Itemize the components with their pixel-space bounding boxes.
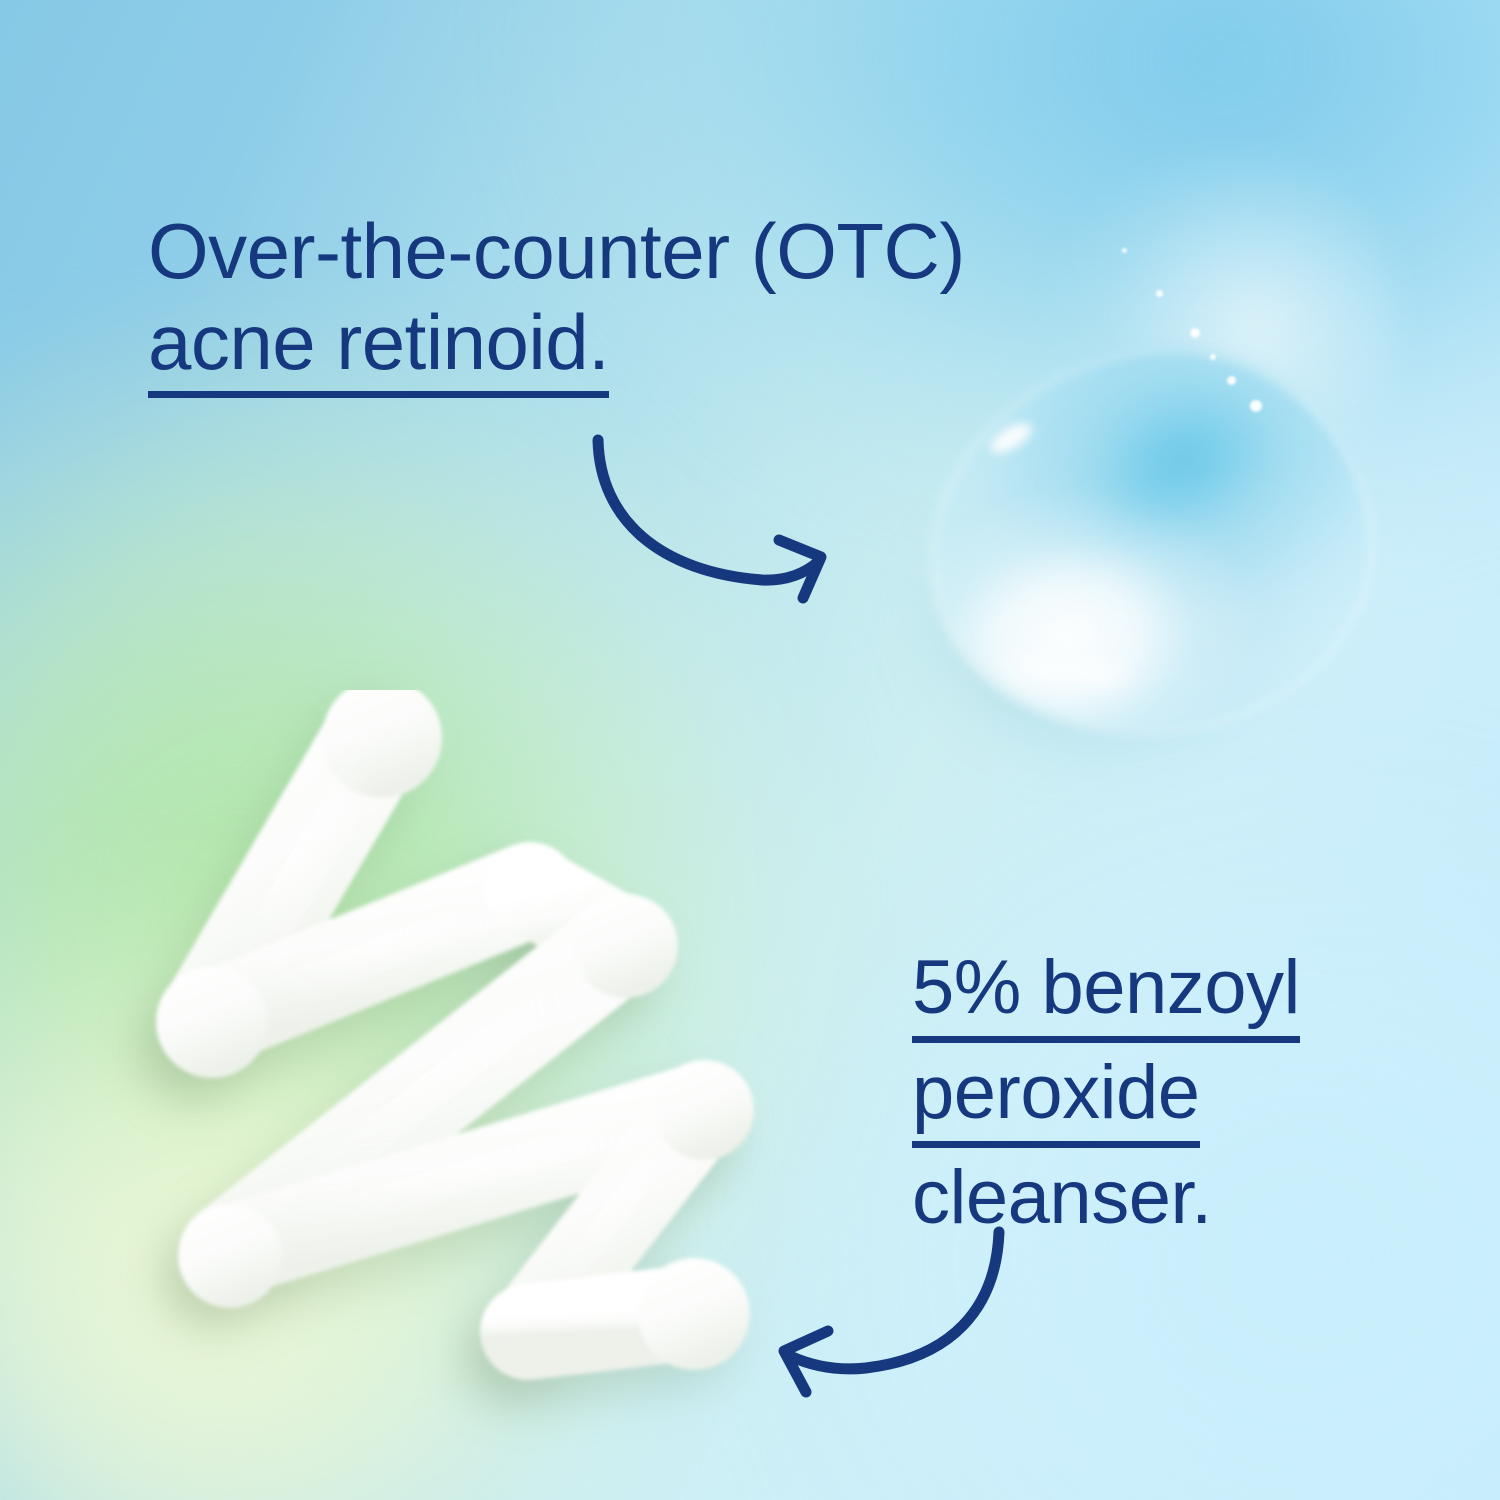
callout-bottom-line-2: peroxide (912, 1047, 1300, 1148)
callout-bottom-underlined-phrase-2: peroxide (912, 1055, 1200, 1148)
arrow-to-gel (598, 440, 821, 598)
product-callout-image: Over-the-counter (OTC) acne retinoid. 5%… (0, 0, 1500, 1500)
callout-bottom-underlined-phrase-1: 5% benzoyl (912, 950, 1300, 1043)
arrow-to-cream (784, 1232, 999, 1392)
callout-top-line-1: Over-the-counter (OTC) (148, 206, 965, 297)
callout-bottom-line-3: cleanser. (912, 1152, 1300, 1243)
callout-otc-acne-retinoid: Over-the-counter (OTC) acne retinoid. (148, 206, 965, 398)
callout-top-line-2: acne retinoid. (148, 297, 965, 398)
callout-bottom-line-1: 5% benzoyl (912, 942, 1300, 1043)
callout-top-underlined-phrase: acne retinoid. (148, 303, 609, 398)
callout-benzoyl-peroxide-cleanser: 5% benzoyl peroxide cleanser. (912, 942, 1300, 1247)
